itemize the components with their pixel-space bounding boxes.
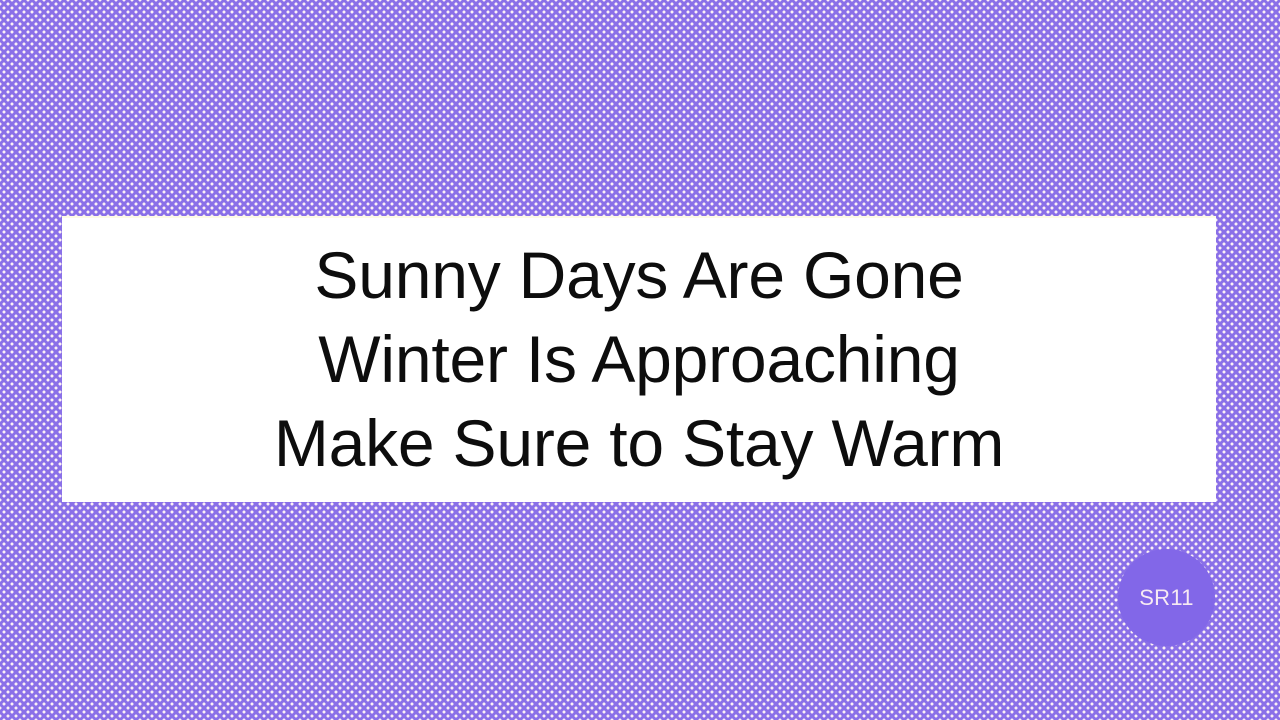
title-line-1: Sunny Days Are Gone <box>62 234 1216 318</box>
slide-title: Sunny Days Are Gone Winter Is Approachin… <box>62 234 1216 485</box>
circle-badge: SR11 <box>1118 549 1215 646</box>
presentation-slide: Sunny Days Are Gone Winter Is Approachin… <box>0 0 1280 720</box>
badge-label: SR11 <box>1139 587 1194 609</box>
title-line-3: Make Sure to Stay Warm <box>62 402 1216 486</box>
title-line-2: Winter Is Approaching <box>62 318 1216 402</box>
title-content-card: Sunny Days Are Gone Winter Is Approachin… <box>62 216 1216 502</box>
